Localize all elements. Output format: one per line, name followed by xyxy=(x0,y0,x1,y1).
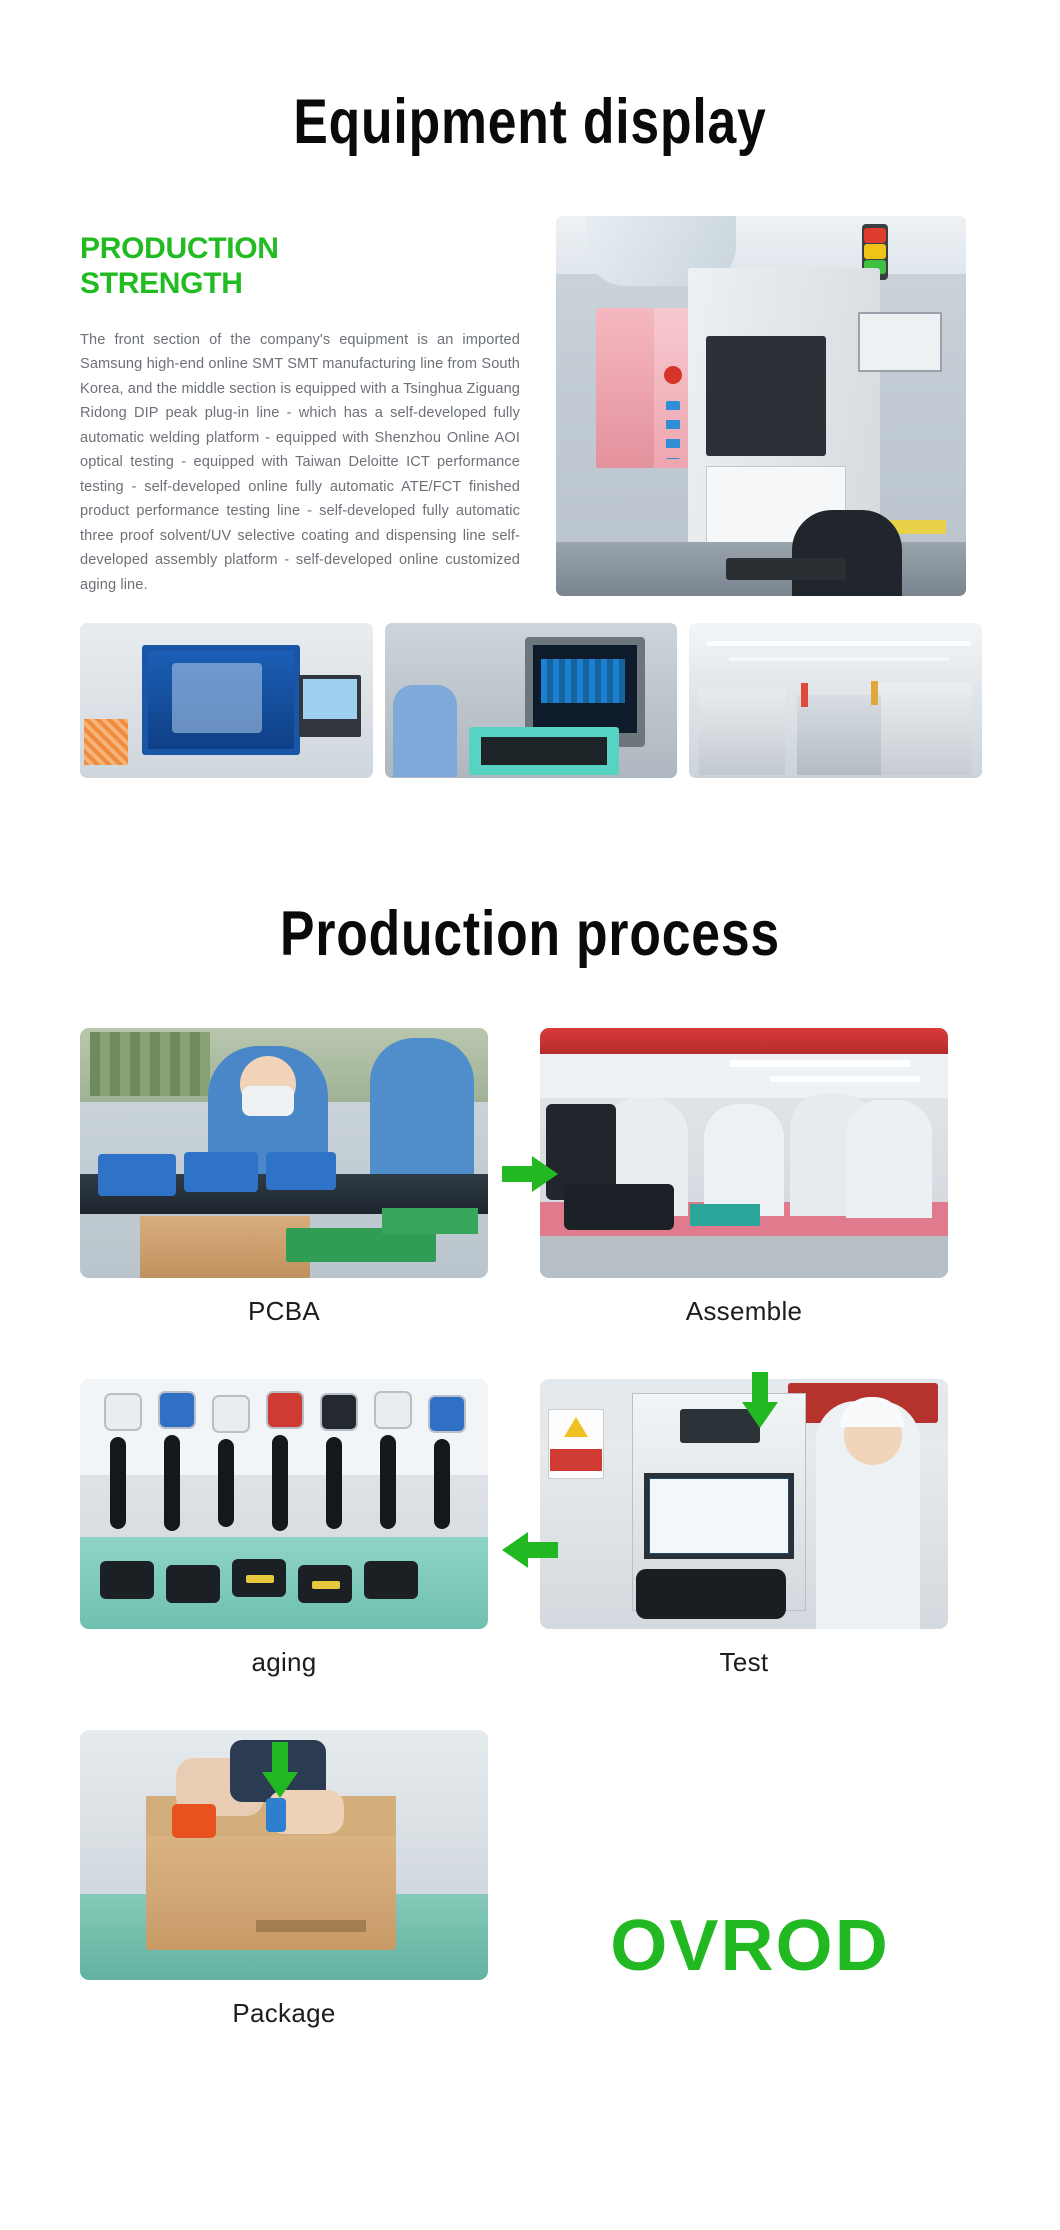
production-strength-paragraph: The front section of the company's equip… xyxy=(80,328,520,598)
process-photo-aging xyxy=(80,1379,488,1629)
process-label-test: Test xyxy=(540,1647,948,1678)
page-title-equipment-display: Equipment display xyxy=(95,0,964,158)
arrow-pcba-to-assemble-icon xyxy=(502,1152,558,1196)
process-step-assemble: Assemble xyxy=(540,1028,948,1327)
production-strength-heading: PRODUCTION STRENGTH xyxy=(80,231,532,302)
arrow-test-to-aging-icon xyxy=(502,1528,558,1572)
brand-logo-text: OVROD xyxy=(610,1905,890,1987)
process-step-aging: aging xyxy=(80,1379,488,1678)
process-label-pcba: PCBA xyxy=(80,1296,488,1327)
equipment-thumbnail-row xyxy=(0,623,1060,778)
arrow-aging-to-package-icon xyxy=(258,1742,302,1798)
arrow-assemble-to-test-icon xyxy=(738,1372,782,1428)
page-title-production-process: Production process xyxy=(95,778,964,970)
equipment-thumbnail-2 xyxy=(385,623,678,778)
equipment-thumbnail-1 xyxy=(80,623,373,778)
equipment-main-photo xyxy=(556,216,966,596)
production-strength-heading-line2: STRENGTH xyxy=(80,266,532,301)
process-photo-pcba xyxy=(80,1028,488,1278)
equipment-display-row: PRODUCTION STRENGTH The front section of… xyxy=(0,216,1060,597)
process-photo-assemble xyxy=(540,1028,948,1278)
process-label-package: Package xyxy=(80,1998,488,2029)
equipment-thumbnail-3 xyxy=(689,623,982,778)
brand-logo: OVROD xyxy=(580,1900,920,1992)
process-label-aging: aging xyxy=(80,1647,488,1678)
process-label-assemble: Assemble xyxy=(540,1296,948,1327)
production-strength-block: PRODUCTION STRENGTH The front section of… xyxy=(80,216,532,597)
process-step-pcba: PCBA xyxy=(80,1028,488,1327)
production-strength-heading-line1: PRODUCTION xyxy=(80,231,532,266)
